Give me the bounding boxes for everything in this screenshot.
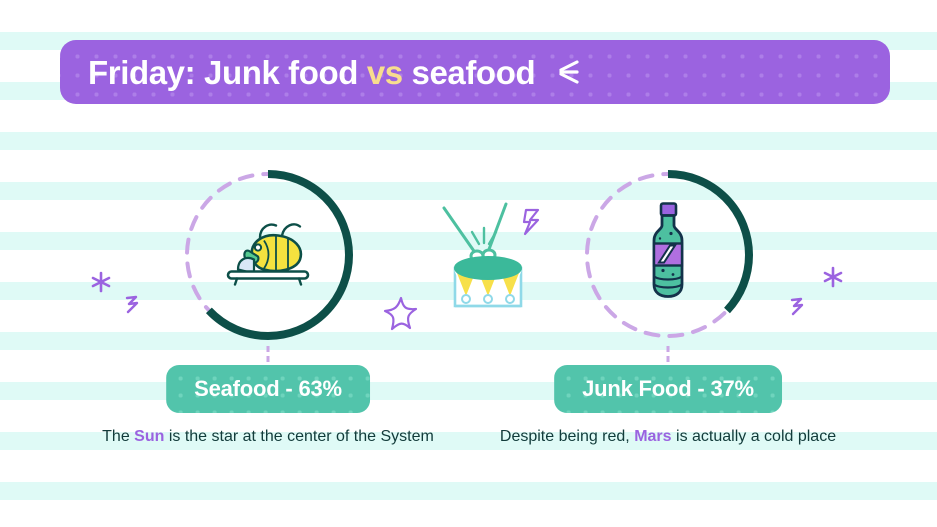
badge-junkfood-label: Junk Food - 37% <box>582 376 754 402</box>
caption-junkfood-highlight: Mars <box>634 428 671 445</box>
title-banner: Friday: Junk food vs seafood <box>60 40 890 104</box>
donut-chart-junkfood <box>573 160 763 350</box>
title-prefix: Friday: Junk food <box>88 54 367 91</box>
caption-junkfood-after: is actually a cold place <box>672 428 837 445</box>
caption-seafood-before: The <box>102 428 134 445</box>
badge-seafood[interactable]: Seafood - 63% <box>166 365 370 413</box>
sparkle-icon <box>555 57 581 87</box>
starfish-icon <box>382 295 420 340</box>
badge-junkfood[interactable]: Junk Food - 37% <box>554 365 782 413</box>
lightning-bolt-icon <box>521 207 543 242</box>
squiggle-icon <box>124 293 140 320</box>
squiggle-icon <box>789 295 805 322</box>
caption-seafood-after: is the star at the center of the System <box>164 428 433 445</box>
soda-bottle-icon <box>640 201 696 310</box>
sparkle-star-icon <box>822 265 844 294</box>
donut-chart-seafood <box>173 160 363 350</box>
caption-junkfood: Despite being red, Mars is actually a co… <box>458 425 878 448</box>
page-title: Friday: Junk food vs seafood <box>88 56 535 89</box>
caption-seafood-highlight: Sun <box>134 428 164 445</box>
title-suffix: seafood <box>403 54 536 91</box>
slide-canvas: Friday: Junk food vs seafood <box>0 0 937 527</box>
title-vs: vs <box>367 54 403 91</box>
sparkle-star-icon <box>90 270 112 299</box>
caption-seafood: The Sun is the star at the center of the… <box>58 425 478 448</box>
caption-junkfood-before: Despite being red, <box>500 428 634 445</box>
shrimp-plate-icon <box>220 212 316 299</box>
badge-seafood-label: Seafood - 63% <box>194 376 342 402</box>
